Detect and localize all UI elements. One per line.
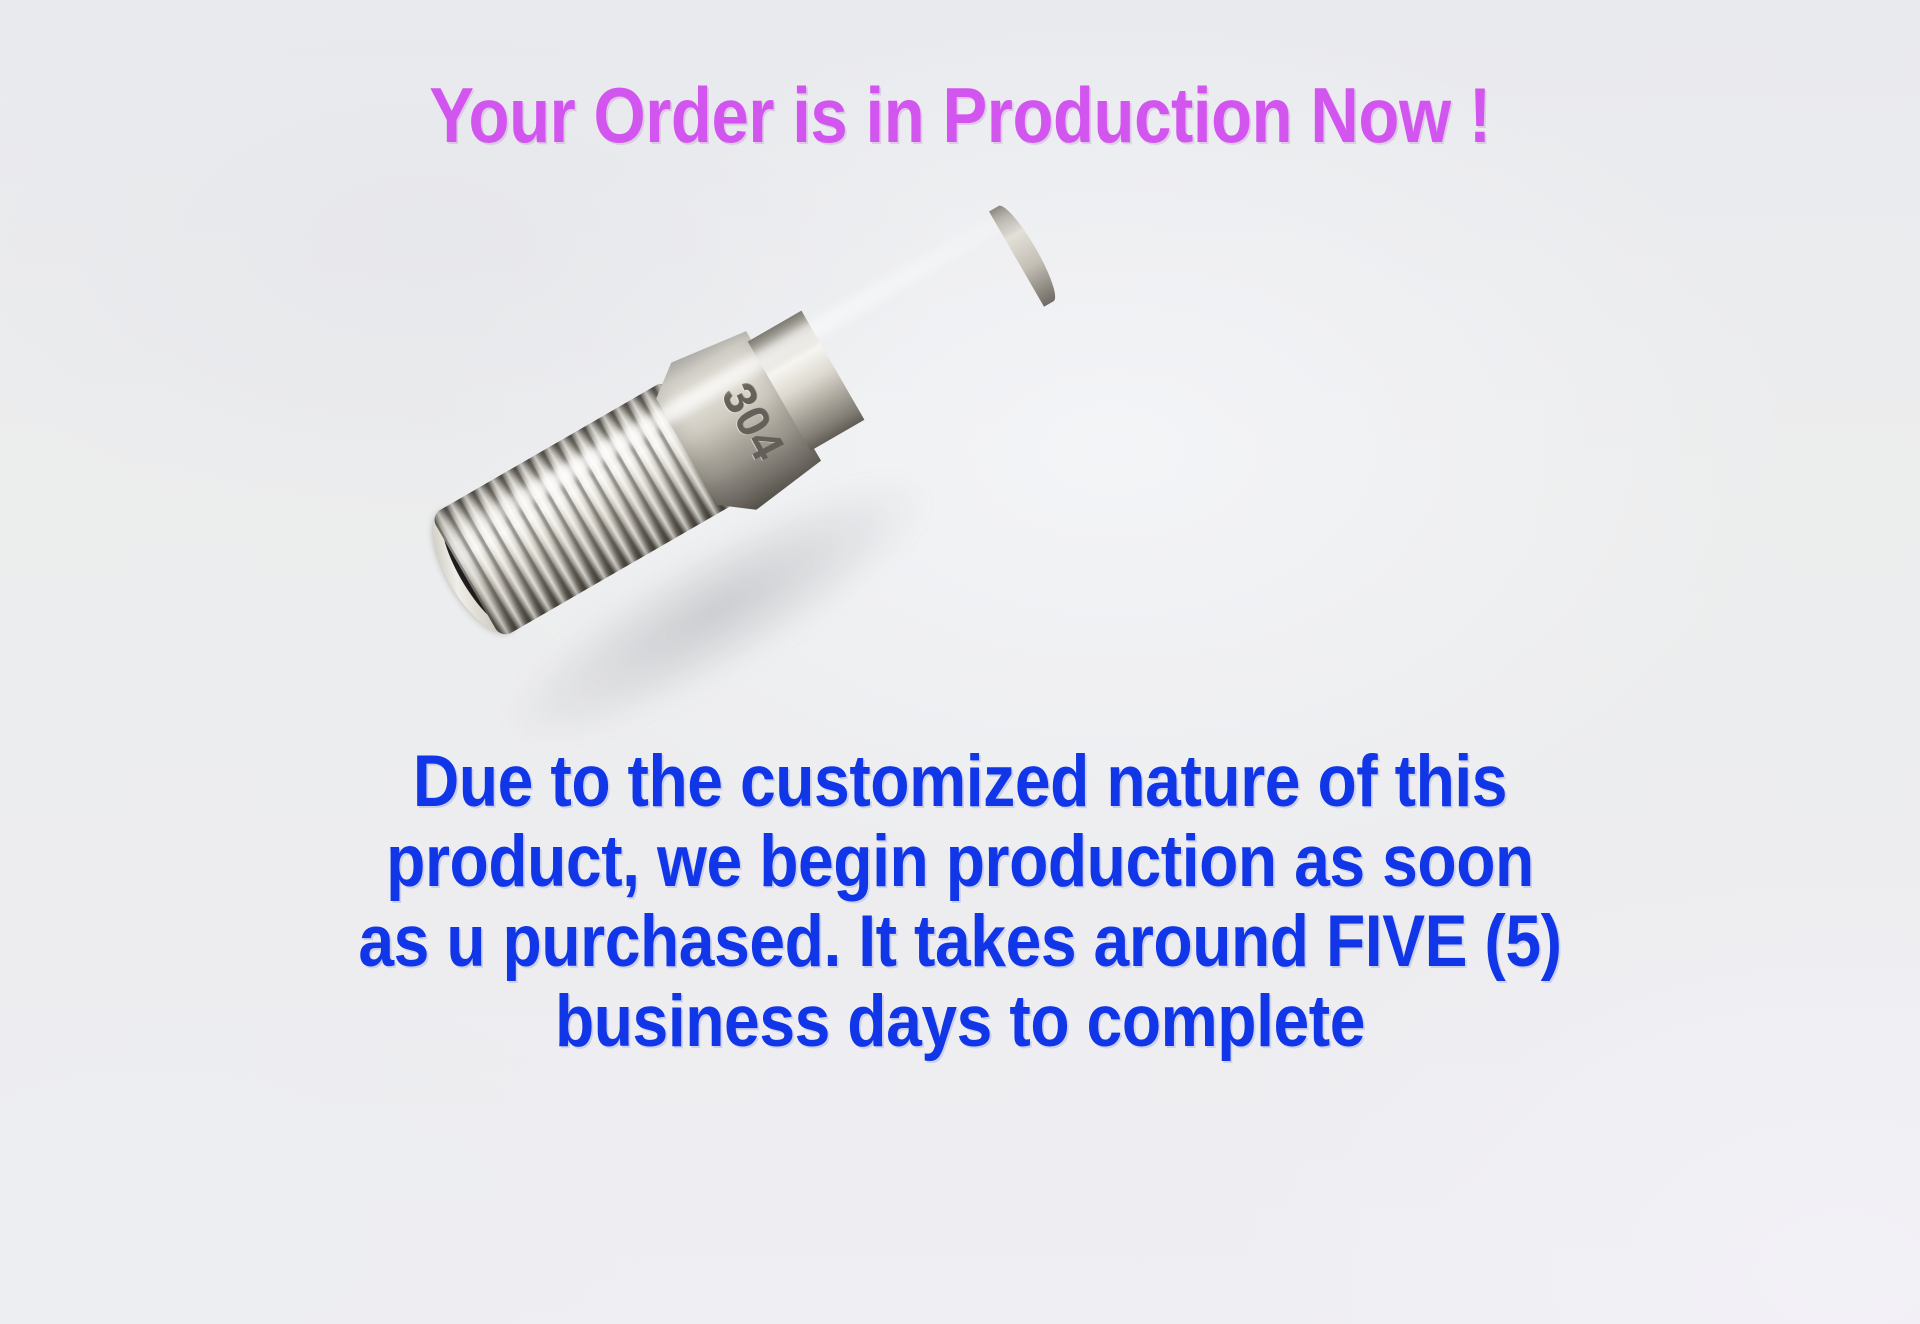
product-photo: 304	[452, 300, 1152, 760]
body-copy-line-2: product, we begin production as soon	[115, 822, 1805, 902]
headline-text: Your Order is in Production Now !	[134, 76, 1785, 156]
body-copy-line-4: business days to complete	[115, 982, 1805, 1062]
promo-banner: Your Order is in Production Now ! 304 Du…	[0, 0, 1920, 1324]
body-copy-block: Due to the customized nature of this pro…	[115, 742, 1805, 1062]
body-copy-line-1: Due to the customized nature of this	[115, 742, 1805, 822]
body-copy-line-3: as u purchased. It takes around FIVE (5)	[115, 902, 1805, 982]
